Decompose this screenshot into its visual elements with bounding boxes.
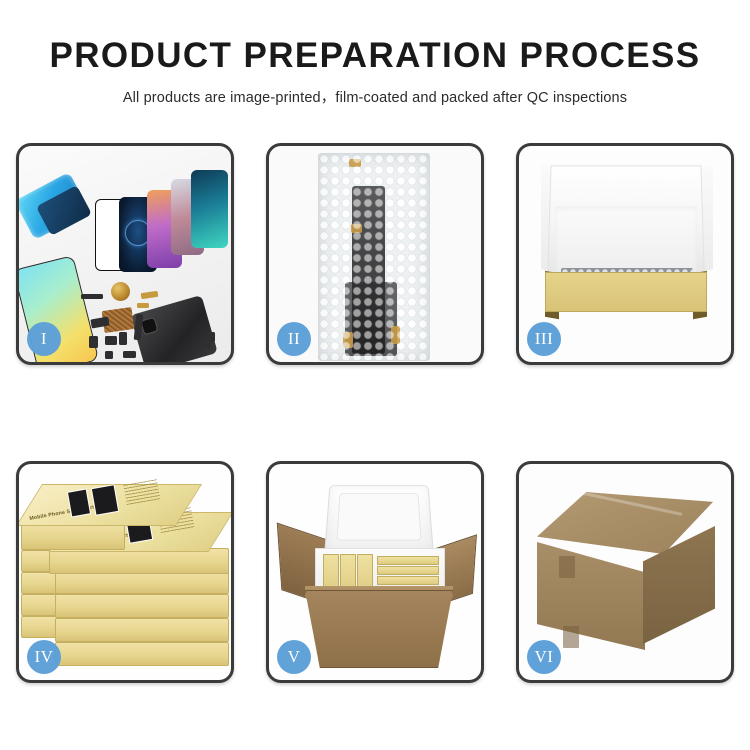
process-step-panel-5: V [266, 461, 484, 683]
process-step-panel-1: I [16, 143, 234, 365]
foam-lid-open-icon [324, 485, 433, 552]
teal-wave-phone-icon [191, 170, 228, 248]
yellow-box-in-carton [377, 556, 439, 565]
product-preparation-process-page: PRODUCT PREPARATION PROCESS All products… [0, 0, 750, 750]
process-step-panel-6: VI [516, 461, 734, 683]
small-part-icon [81, 294, 103, 299]
small-part-icon [199, 342, 210, 348]
stacked-box [55, 618, 229, 642]
stacked-box [55, 594, 229, 618]
gold-connector-icon [343, 332, 353, 348]
step-badge-5: V [277, 640, 311, 674]
step-badge-6: VI [527, 640, 561, 674]
carton-body-icon [305, 590, 453, 668]
yellow-box-in-carton [377, 576, 439, 585]
process-step-panel-4: Mobile Phone Spare Parts Mobile Phone Sp… [16, 461, 234, 683]
small-part-icon [123, 351, 136, 358]
stacked-box-printed [21, 522, 125, 550]
gold-flex-part-icon [141, 291, 159, 299]
foam-lid-inner-icon [337, 493, 422, 540]
box-print-screen-image [67, 488, 91, 517]
small-part-icon [119, 332, 127, 345]
gold-connector-icon [391, 326, 400, 344]
step-badge-2: II [277, 322, 311, 356]
carton-tape-icon [563, 626, 579, 648]
carton-tape-icon [559, 556, 575, 578]
carton-front-face-icon [537, 542, 645, 650]
yellow-box-in-carton [377, 566, 439, 575]
gold-connector-icon [351, 224, 362, 233]
page-header: PRODUCT PREPARATION PROCESS All products… [0, 0, 750, 107]
box-print-screen-image [91, 484, 119, 516]
step-badge-1: I [27, 322, 61, 356]
gold-coil-part-icon [111, 282, 130, 301]
camera-lens-icon [140, 317, 159, 336]
process-step-panel-3: III [516, 143, 734, 365]
process-steps-grid: I II [16, 143, 734, 708]
gold-connector-icon [349, 159, 361, 167]
step-badge-3: III [527, 322, 561, 356]
small-part-icon [105, 351, 113, 359]
small-part-icon [209, 332, 215, 342]
page-title: PRODUCT PREPARATION PROCESS [0, 38, 750, 75]
stacked-box [55, 642, 229, 666]
page-subtitle: All products are image-printed，film-coat… [0, 86, 750, 107]
bubble-wrap-bag-icon [318, 153, 430, 361]
small-part-icon [105, 336, 117, 345]
step-badge-4: IV [27, 640, 61, 674]
yellow-box-front-icon [545, 272, 707, 312]
process-step-panel-2: II [266, 143, 484, 365]
small-part-icon [89, 336, 98, 348]
gold-flex-part-icon [137, 303, 149, 308]
